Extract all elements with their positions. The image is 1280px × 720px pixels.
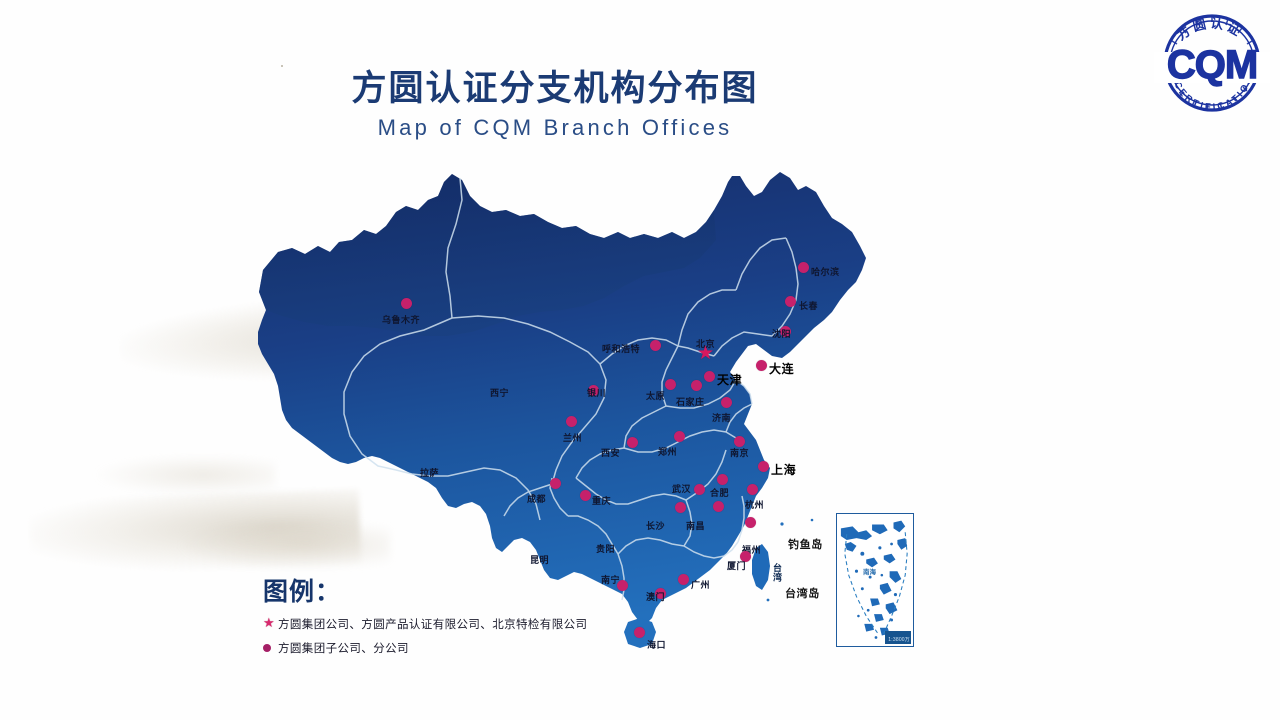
- city-dot-marker: [704, 371, 715, 382]
- city-label: 太原: [646, 389, 665, 402]
- city-label: 长沙: [646, 519, 665, 532]
- legend-star-icon: ★: [263, 618, 278, 630]
- city-dot-marker: [674, 431, 685, 442]
- city-label: 厦门: [727, 559, 746, 572]
- city-label: 乌鲁木齐: [382, 313, 420, 326]
- legend: 图例： ★方圆集团公司、方圆产品认证有限公司、北京特检有限公司方圆集团子公司、分…: [263, 572, 587, 656]
- city-label: 石家庄: [676, 395, 705, 408]
- diaoyu-island-speck: [780, 522, 783, 525]
- city-dot-marker: [634, 627, 645, 638]
- city-label: 海口: [647, 638, 666, 651]
- city-dot-marker: [650, 340, 661, 351]
- legend-items: ★方圆集团公司、方圆产品认证有限公司、北京特检有限公司方圆集团子公司、分公司: [263, 616, 587, 656]
- legend-item-label: 方圆集团子公司、分公司: [278, 640, 409, 656]
- island-speck: [811, 519, 814, 522]
- city-label: 澳门: [646, 590, 665, 603]
- city-label: 呼和浩特: [602, 342, 640, 355]
- south-china-sea-inset: 南海 1:3800万: [836, 513, 914, 647]
- island-label: 台湾: [770, 563, 783, 582]
- city-label: 南昌: [686, 519, 705, 532]
- island-label: 台湾岛: [785, 585, 820, 601]
- city-label: 沈阳: [772, 327, 791, 340]
- city-label: 昆明: [530, 553, 549, 566]
- city-dot-marker: [694, 484, 705, 495]
- city-dot-marker: [745, 517, 756, 528]
- slide-canvas: 方圆认证分支机构分布图 Map of CQM Branch Offices: [0, 0, 1280, 720]
- legend-circle-icon-wrap: [263, 642, 278, 654]
- city-label: 杭州: [745, 498, 764, 511]
- city-dot-marker: [713, 501, 724, 512]
- city-dot-marker: [798, 262, 809, 273]
- city-label: 北京: [696, 337, 715, 350]
- legend-item: 方圆集团子公司、分公司: [263, 640, 587, 656]
- city-label: 郑州: [658, 445, 677, 458]
- city-label: 南京: [730, 446, 749, 459]
- city-label: 成都: [527, 492, 546, 505]
- island-label: 钓鱼岛: [788, 536, 823, 552]
- city-dot-marker: [627, 437, 638, 448]
- city-label: 重庆: [592, 494, 611, 507]
- city-label: 济南: [712, 411, 731, 424]
- city-dot-marker: [691, 380, 702, 391]
- city-label: 西宁: [490, 386, 509, 399]
- city-dot-marker: [756, 360, 767, 371]
- city-dot-marker: [721, 397, 732, 408]
- legend-title: 图例：: [263, 572, 587, 608]
- city-label: 广州: [691, 578, 710, 591]
- city-label: 上海: [771, 461, 796, 478]
- city-label: 哈尔滨: [811, 265, 840, 278]
- city-dot-marker: [785, 296, 796, 307]
- legend-item: ★方圆集团公司、方圆产品认证有限公司、北京特检有限公司: [263, 616, 587, 632]
- city-dot-marker: [717, 474, 728, 485]
- city-dot-marker: [747, 484, 758, 495]
- city-label: 合肥: [710, 486, 729, 499]
- city-dot-marker: [401, 298, 412, 309]
- city-dot-marker: [665, 379, 676, 390]
- city-label: 兰州: [563, 431, 582, 444]
- china-map: [0, 0, 1280, 720]
- legend-item-label: 方圆集团公司、方圆产品认证有限公司、北京特检有限公司: [278, 616, 587, 632]
- city-label: 长春: [799, 299, 818, 312]
- city-dot-marker: [580, 490, 591, 501]
- city-dot-marker: [758, 461, 769, 472]
- city-label: 贵阳: [596, 542, 615, 555]
- city-label: 大连: [769, 360, 794, 377]
- city-dot-marker: [566, 416, 577, 427]
- island-speck: [767, 599, 770, 602]
- city-dot-marker: [678, 574, 689, 585]
- city-label: 拉萨: [420, 466, 439, 479]
- legend-circle-icon: [263, 644, 271, 652]
- inset-scale-label: 1:3800万: [888, 636, 910, 643]
- city-dot-marker: [734, 436, 745, 447]
- city-dot-marker: [675, 502, 686, 513]
- city-label: 武汉: [672, 482, 691, 495]
- city-dot-marker: [550, 478, 561, 489]
- city-label: 天津: [717, 371, 742, 388]
- city-label: 南宁: [601, 573, 620, 586]
- city-label: 西安: [601, 446, 620, 459]
- city-label: 银川: [587, 386, 606, 399]
- inset-sea-label: 南海: [863, 566, 876, 576]
